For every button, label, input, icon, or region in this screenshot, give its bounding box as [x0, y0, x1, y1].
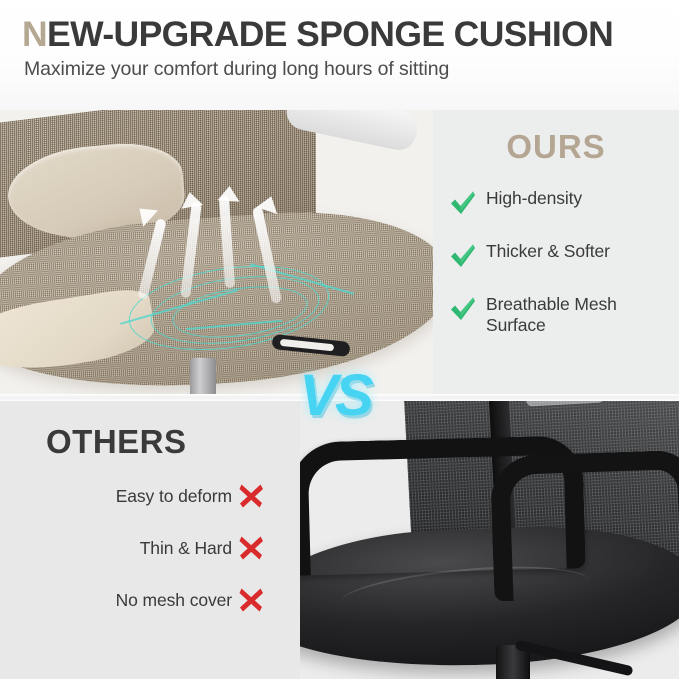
others-section: OTHERS Easy to deform Thin & Hard	[0, 401, 679, 679]
green-check-icon	[449, 242, 477, 270]
chair-gas-cylinder	[190, 358, 216, 396]
green-check-icon	[449, 295, 477, 323]
page-title: NEW-UPGRADE SPONGE CUSHION	[22, 16, 661, 54]
others-heading: OTHERS	[0, 401, 300, 461]
ours-product-photo	[0, 110, 433, 396]
ours-section: OURS High-density	[0, 110, 679, 396]
green-check-icon	[449, 189, 477, 217]
others-feature-panel: OTHERS Easy to deform Thin & Hard	[0, 401, 300, 679]
red-cross-icon	[238, 535, 264, 561]
ours-feature-panel: OURS High-density	[433, 110, 679, 396]
others-feature-label: Easy to deform	[116, 486, 232, 507]
red-cross-icon	[238, 587, 264, 613]
header-banner: NEW-UPGRADE SPONGE CUSHION Maximize your…	[0, 0, 679, 110]
red-cross-icon	[238, 483, 264, 509]
others-product-photo	[300, 401, 679, 679]
list-item: No mesh cover	[0, 587, 264, 613]
title-rest: EW-UPGRADE SPONGE CUSHION	[47, 14, 613, 54]
list-item: Breathable Mesh Surface	[449, 294, 667, 335]
ours-heading: OURS	[433, 110, 679, 166]
list-item: High-density	[449, 188, 667, 217]
list-item: Easy to deform	[0, 483, 264, 509]
vs-badge: VS	[283, 364, 387, 428]
others-feature-label: Thin & Hard	[140, 538, 232, 559]
mesh-rib	[526, 401, 605, 407]
ours-feature-label: High-density	[486, 188, 582, 209]
product-comparison-infographic: NEW-UPGRADE SPONGE CUSHION Maximize your…	[0, 0, 679, 679]
others-feature-label: No mesh cover	[116, 590, 232, 611]
list-item: Thin & Hard	[0, 535, 264, 561]
ours-feature-label: Thicker & Softer	[486, 241, 610, 262]
list-item: Thicker & Softer	[449, 241, 667, 270]
ours-feature-list: High-density Thicker & Softer	[433, 166, 679, 335]
page-subtitle: Maximize your comfort during long hours …	[24, 58, 661, 81]
ours-feature-label: Breathable Mesh Surface	[486, 294, 667, 335]
airflow-arrowhead-icon	[218, 185, 241, 201]
title-lead-letter: N	[22, 14, 47, 54]
black-armrest-right	[490, 449, 679, 601]
others-feature-list: Easy to deform Thin & Hard	[0, 461, 300, 613]
